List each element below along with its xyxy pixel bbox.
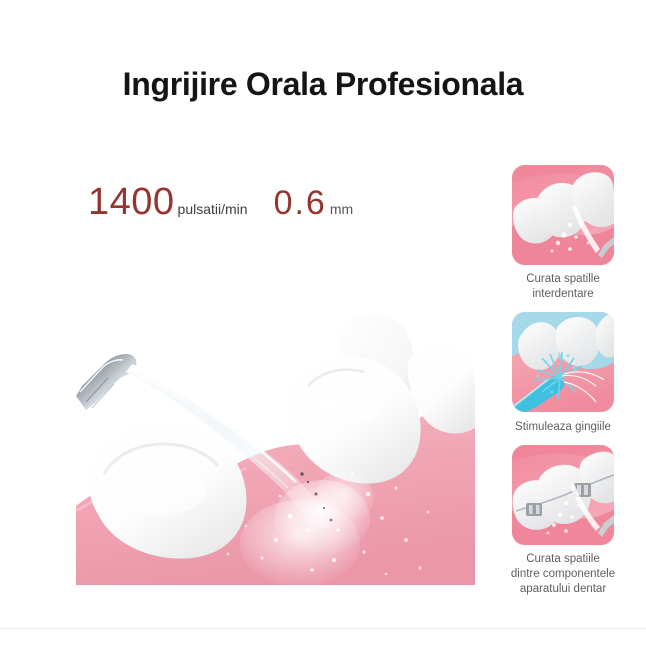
thumbnail-3-svg (512, 445, 614, 545)
thumbnail-1-svg (512, 165, 614, 265)
thumbnail-2-svg (512, 312, 614, 412)
feature-item-gum-stimulation[interactable]: Stimuleaza gingiile (498, 312, 628, 435)
spec-value-pulses: 1400 (88, 183, 175, 221)
feature-list: Curata spatille interdentare (498, 165, 628, 607)
braces-cleaning-thumbnail[interactable] (512, 445, 614, 545)
caption-line-1: Curata spatille (498, 272, 628, 287)
caption-line-3: aparatului dentar (498, 582, 628, 597)
caption-line-1: Curata spatiile (498, 552, 628, 567)
water-flosser-scene-svg (76, 268, 475, 585)
caption-line-1: Stimuleaza gingiile (498, 420, 628, 435)
feature-caption-gum-stimulation: Stimuleaza gingiile (498, 420, 628, 435)
bottom-divider (0, 628, 646, 629)
feature-caption-braces: Curata spatiile dintre componentele apar… (498, 552, 628, 597)
spec-value-diameter: 0.6 (274, 186, 327, 220)
gum-stimulation-thumbnail[interactable] (512, 312, 614, 412)
spec-unit-diameter: mm (330, 202, 353, 216)
spec-unit-pulses: pulsatii/min (178, 202, 248, 216)
caption-line-2: interdentare (498, 287, 628, 302)
hero-illustration (76, 268, 475, 585)
page-title: Ingrijire Orala Profesionala (0, 66, 646, 103)
product-infographic-page: Ingrijire Orala Profesionala 1400 pulsat… (0, 0, 646, 645)
teeth-interdental-cleaning-thumbnail[interactable] (512, 165, 614, 265)
feature-item-interdental[interactable]: Curata spatille interdentare (498, 165, 628, 302)
feature-caption-interdental: Curata spatille interdentare (498, 272, 628, 302)
caption-line-2: dintre componentele (498, 567, 628, 582)
feature-item-braces[interactable]: Curata spatiile dintre componentele apar… (498, 445, 628, 597)
specs-row: 1400 pulsatii/min 0.6 mm (88, 183, 353, 221)
